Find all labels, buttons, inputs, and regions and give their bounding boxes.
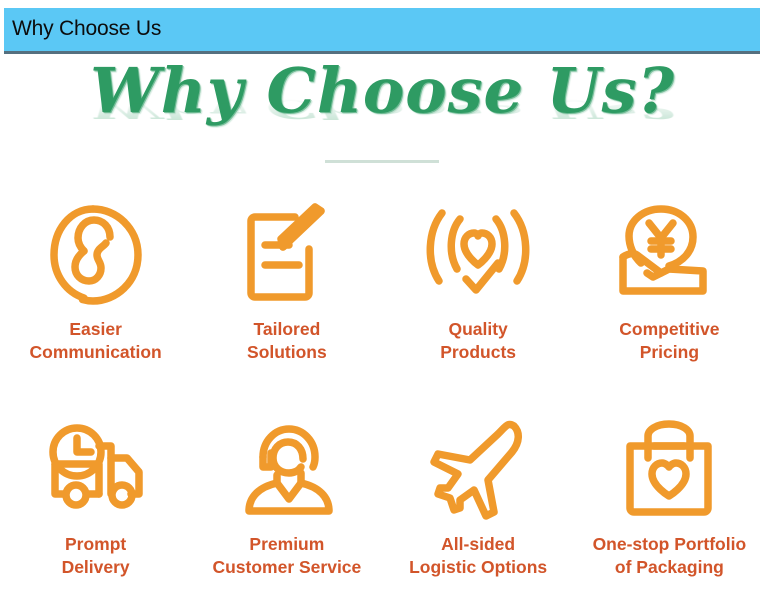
feature-label-line2: Pricing xyxy=(619,341,719,364)
feature-label: Premium Customer Service xyxy=(212,533,361,579)
feature-label-line1: All-sided xyxy=(441,534,515,554)
feature-label: Competitive Pricing xyxy=(619,318,719,364)
feature-label-line2: Customer Service xyxy=(212,556,361,579)
feature-row: Easier Communication Tailored xyxy=(0,194,765,392)
page-title: Why Choose Us xyxy=(12,15,161,43)
feature-row: Prompt Delivery xyxy=(0,409,765,607)
window-header-bar: Why Choose Us xyxy=(4,8,760,54)
feature-label: Easier Communication xyxy=(30,318,162,364)
feature-label: Tailored Solutions xyxy=(247,318,327,364)
hand-yen-coin-icon xyxy=(613,196,725,314)
headset-agent-icon xyxy=(231,411,343,529)
document-pencil-icon xyxy=(231,196,343,314)
feature-label: Prompt Delivery xyxy=(62,533,130,579)
feature-label: All-sided Logistic Options xyxy=(409,533,547,579)
feature-label-line1: Quality xyxy=(448,319,507,339)
feature-label-line1: Competitive xyxy=(619,319,719,339)
hero-title-block: Why Choose Us? Why Choose Us? xyxy=(0,54,765,159)
feature-item-premium-customer-service[interactable]: Premium Customer Service xyxy=(191,409,382,607)
feature-label-line1: Easier xyxy=(69,319,122,339)
feature-label-line1: Prompt xyxy=(65,534,126,554)
feature-item-easier-communication[interactable]: Easier Communication xyxy=(0,194,191,392)
feature-label-line1: Tailored xyxy=(253,319,320,339)
feature-label: Quality Products xyxy=(440,318,516,364)
airplane-icon xyxy=(422,411,534,529)
feature-label-line2: of Packaging xyxy=(593,556,747,579)
heart-signal-check-icon xyxy=(422,196,534,314)
feature-item-quality-products[interactable]: Quality Products xyxy=(383,194,574,392)
feature-label-line2: Communication xyxy=(30,341,162,364)
feature-item-prompt-delivery[interactable]: Prompt Delivery xyxy=(0,409,191,607)
ear-in-circle-icon xyxy=(40,196,152,314)
feature-label-line2: Products xyxy=(440,341,516,364)
feature-grid: Easier Communication Tailored xyxy=(0,194,765,599)
hero-title-reflection: Why Choose Us? xyxy=(0,96,765,122)
feature-label-line2: Delivery xyxy=(62,556,130,579)
hero-divider xyxy=(325,160,439,163)
shopping-bag-heart-icon xyxy=(613,411,725,529)
feature-label-line1: One-stop Portfolio xyxy=(593,534,747,554)
feature-label-line1: Premium xyxy=(249,534,324,554)
feature-item-all-sided-logistic-options[interactable]: All-sided Logistic Options xyxy=(383,409,574,607)
feature-item-one-stop-portfolio-of-packaging[interactable]: One-stop Portfolio of Packaging xyxy=(574,409,765,607)
feature-label: One-stop Portfolio of Packaging xyxy=(593,533,747,579)
slide-canvas: Why Choose Us? Why Choose Us? Easier xyxy=(0,54,765,599)
feature-label-line2: Logistic Options xyxy=(409,556,547,579)
feature-item-competitive-pricing[interactable]: Competitive Pricing xyxy=(574,194,765,392)
delivery-truck-clock-icon xyxy=(40,411,152,529)
feature-label-line2: Solutions xyxy=(247,341,327,364)
feature-item-tailored-solutions[interactable]: Tailored Solutions xyxy=(191,194,382,392)
